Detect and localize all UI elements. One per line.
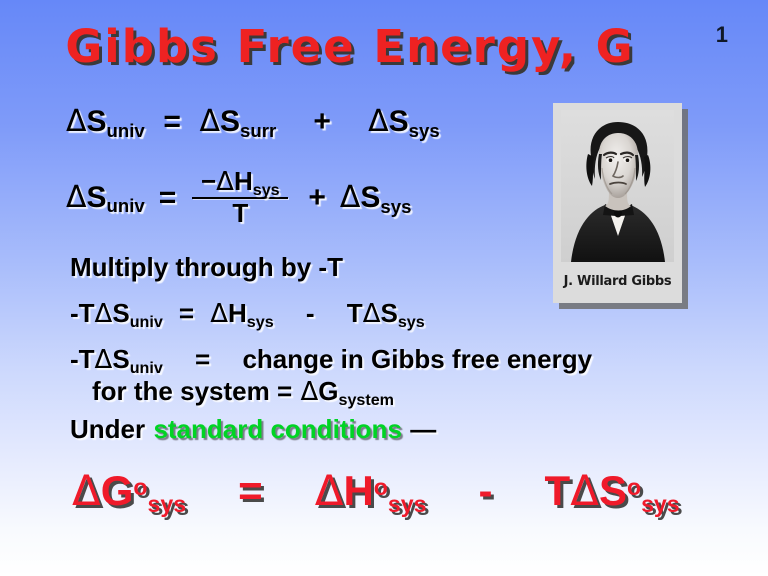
eq2-numerator-symbol: H: [234, 166, 253, 196]
page-title: Gibbs Free Energy, G: [0, 20, 700, 73]
eq3-prefix: -T: [70, 298, 95, 328]
eq3-lhs-symbol: S: [112, 298, 129, 328]
final-term1-subscript: sys: [388, 491, 427, 517]
eq2-fraction: −ΔHsys T: [192, 168, 288, 228]
gibbs-portrait-card: J. Willard Gibbs: [553, 103, 682, 303]
eq3-lhs-subscript: univ: [130, 313, 163, 331]
slide-number: 1: [716, 22, 728, 48]
delta-symbol: Δ: [570, 466, 599, 515]
eq3-term1-subscript: sys: [247, 313, 274, 331]
under-trail-dash: —: [410, 414, 436, 444]
delta-symbol: Δ: [95, 299, 113, 329]
eq4-lhs-symbol: S: [112, 344, 129, 374]
delta-symbol: Δ: [340, 180, 361, 215]
delta-symbol: Δ: [210, 299, 228, 329]
delta-symbol: Δ: [315, 466, 344, 515]
eq2-numerator-subscript: sys: [253, 181, 280, 199]
slide-canvas: 1 Gibbs Free Energy, G ΔSuniv=ΔSsurr+ΔSs…: [0, 0, 768, 576]
equation-entropy-universe: ΔSuniv=ΔSsurr+ΔSsys: [66, 104, 440, 139]
minus-sign: −: [201, 166, 216, 196]
instruction-multiply-line: Multiply through by -T: [70, 252, 343, 283]
delta-symbol: Δ: [363, 299, 381, 329]
final-term2-prefix: T: [545, 467, 571, 514]
eq2-numerator: −ΔHsys: [195, 168, 286, 197]
eq3-operator: -: [306, 298, 315, 328]
final-term2-degree: o: [627, 474, 641, 500]
eq4-description-line1: change in Gibbs free energy: [242, 344, 592, 374]
final-term2-symbol: S: [599, 467, 627, 514]
standard-conditions-line: Understandard conditions—: [70, 414, 436, 445]
eq1-lhs-symbol: S: [87, 105, 107, 138]
portrait-caption: J. Willard Gibbs: [553, 274, 682, 289]
delta-symbol: Δ: [72, 466, 101, 515]
eq4-lhs-subscript: univ: [130, 359, 163, 377]
final-lhs-subscript: sys: [148, 491, 187, 517]
eq1-term1-subscript: surr: [240, 120, 276, 141]
eq3-equals: =: [179, 298, 194, 328]
eq2-rhs-symbol: S: [360, 181, 380, 214]
eq2-rhs: ΔSsys: [340, 180, 412, 215]
equation-multiplied: -TΔSuniv=ΔHsys-TΔSsys: [70, 298, 425, 329]
delta-symbol: Δ: [368, 104, 389, 139]
delta-symbol: Δ: [300, 377, 318, 407]
standard-conditions-highlight: standard conditions: [153, 414, 401, 444]
eq1-term2-subscript: sys: [409, 120, 440, 141]
eq4-equals: =: [195, 344, 210, 374]
equation-gibbs-definition-line2: for the system =ΔGsystem: [92, 376, 394, 407]
portrait-image: [561, 110, 674, 262]
equation-entropy-fraction: ΔSuniv = −ΔHsys T + ΔSsys: [66, 168, 411, 228]
final-term1-symbol: H: [343, 467, 373, 514]
final-equals: =: [238, 467, 263, 514]
final-operator: -: [478, 467, 492, 514]
delta-symbol: Δ: [95, 345, 113, 375]
eq4-result-symbol: G: [318, 376, 338, 406]
eq3-term2-subscript: sys: [398, 313, 425, 331]
eq4-prefix: -T: [70, 344, 95, 374]
eq1-term1-symbol: S: [220, 105, 240, 138]
delta-symbol: Δ: [66, 104, 87, 139]
delta-symbol: Δ: [200, 104, 221, 139]
final-term2-subscript: sys: [641, 491, 680, 517]
eq2-equals: =: [159, 181, 177, 215]
eq2-lhs: ΔSuniv: [66, 183, 145, 213]
delta-symbol: Δ: [66, 180, 87, 215]
eq1-operator: +: [313, 105, 331, 138]
eq4-description-line2: for the system =: [92, 376, 292, 406]
eq3-term1-symbol: H: [228, 298, 247, 328]
eq1-term2-symbol: S: [389, 105, 409, 138]
final-lhs-symbol: G: [101, 467, 134, 514]
delta-symbol: Δ: [216, 167, 234, 197]
eq3-term2-prefix: T: [347, 298, 363, 328]
final-lhs-degree: o: [133, 474, 147, 500]
final-term1-degree: o: [374, 474, 388, 500]
under-lead-text: Under: [70, 414, 145, 444]
eq2-denominator: T: [232, 199, 248, 227]
equation-gibbs-standard: ΔGosys=ΔHosys-TΔSosys: [72, 466, 680, 515]
eq3-term2-symbol: S: [380, 298, 397, 328]
equation-gibbs-definition-line1: -TΔSuniv=change in Gibbs free energy: [70, 344, 592, 375]
eq1-lhs-subscript: univ: [107, 120, 145, 141]
eq2-lhs-subscript: univ: [107, 195, 145, 216]
eq2-rhs-subscript: sys: [380, 196, 411, 217]
eq4-result-subscript: system: [338, 391, 394, 409]
eq2-operator: +: [308, 181, 326, 215]
eq1-equals: =: [163, 105, 181, 138]
eq2-lhs-symbol: S: [87, 181, 107, 214]
